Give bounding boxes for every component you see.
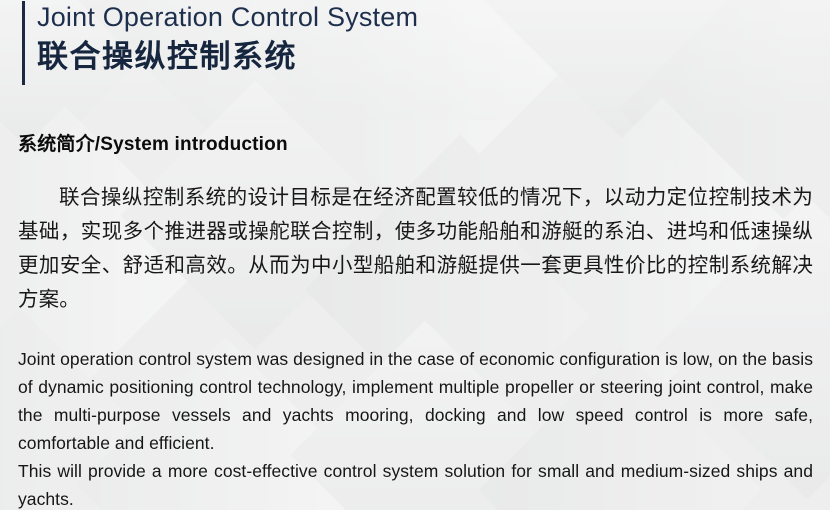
section-heading: 系统简介/System introduction <box>18 132 813 158</box>
paragraph-chinese: 联合操纵控制系统的设计目标是在经济配置较低的情况下，以动力定位控制技术为基础，实… <box>18 180 813 316</box>
paragraph-english-1: Joint operation control system was desig… <box>18 345 813 457</box>
content-body: 系统简介/System introduction 联合操纵控制系统的设计目标是在… <box>18 132 813 510</box>
vertical-accent-bar <box>22 1 25 85</box>
paragraph-english-2: This will provide a more cost-effective … <box>18 457 813 510</box>
page-header: Joint Operation Control System 联合操纵控制系统 <box>0 0 830 92</box>
page-title-english: Joint Operation Control System <box>37 0 418 35</box>
page-title-chinese: 联合操纵控制系统 <box>37 35 297 79</box>
slide-page: Joint Operation Control System 联合操纵控制系统 … <box>0 0 830 510</box>
